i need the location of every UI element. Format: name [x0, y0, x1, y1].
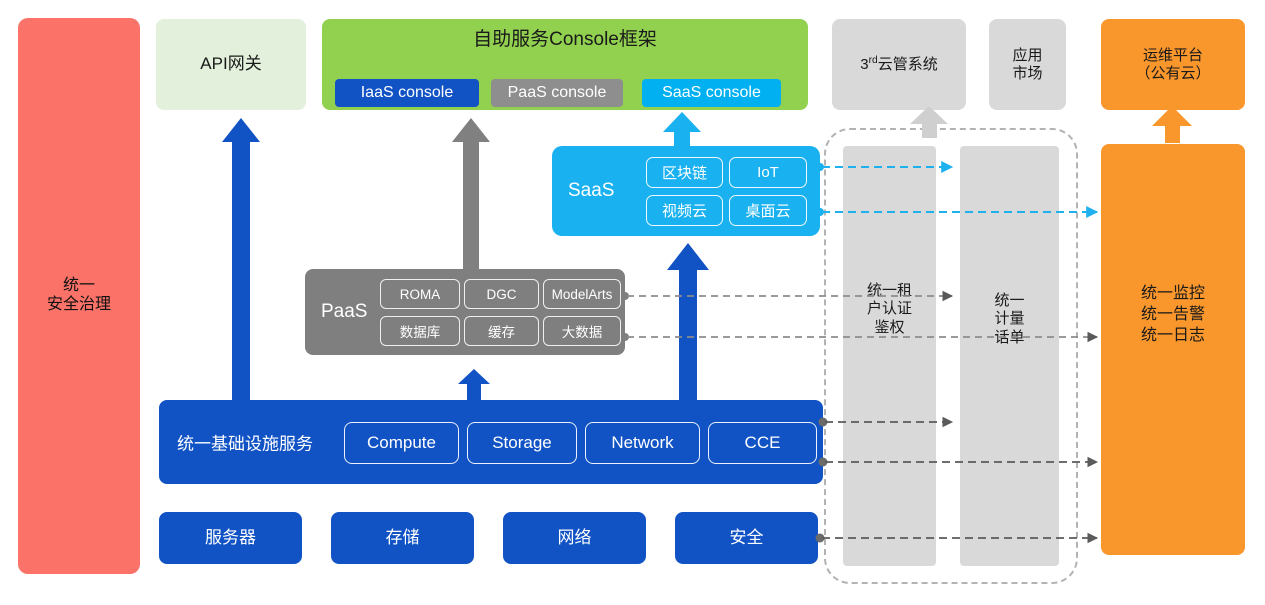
ops-monitoring-line3: 统一日志 — [1101, 326, 1245, 347]
architecture-diagram: 统一 安全治理 API网关 自助服务Console框架 IaaS console… — [0, 0, 1265, 605]
third-party-cloud-box: 3rd云管系统 — [832, 19, 966, 110]
ops-platform-line1: 运维平台 — [1143, 47, 1203, 65]
infra-service-cce[interactable]: CCE — [708, 422, 817, 464]
third-party-cloud-label: 3rd云管系统 — [860, 55, 937, 74]
iaas-console-label: IaaS console — [361, 84, 454, 103]
unified-billing-text: 统一 计量 话单 — [960, 292, 1059, 347]
saas-service-iot[interactable]: IoT — [729, 157, 807, 188]
console-framework-box: 自助服务Console框架 IaaS console PaaS console … — [322, 19, 808, 110]
paas-service-dgc-label: DGC — [487, 287, 517, 302]
hardware-network-box: 网络 — [503, 512, 646, 564]
paas-service-database-label: 数据库 — [400, 321, 441, 341]
unified-billing-line2: 计量 — [960, 310, 1059, 328]
saas-service-desktop-cloud-label: 桌面云 — [745, 200, 790, 221]
security-governance-line1: 统一 — [63, 277, 95, 296]
saas-console-chip[interactable]: SaaS console — [642, 79, 781, 107]
arrow-infra-to-paas — [458, 369, 490, 400]
security-governance-line2: 安全治理 — [47, 296, 111, 315]
infra-service-compute[interactable]: Compute — [344, 422, 459, 464]
infrastructure-bar: 统一基础设施服务 Compute Storage Network CCE — [159, 400, 823, 484]
saas-service-iot-label: IoT — [757, 164, 779, 181]
saas-block: SaaS 区块链 IoT 视频云 桌面云 — [552, 146, 820, 236]
infra-service-network-label: Network — [611, 433, 673, 453]
unified-auth-line3: 鉴权 — [843, 319, 936, 337]
paas-service-roma-label: ROMA — [400, 287, 441, 302]
ops-monitoring-panel — [1101, 144, 1245, 555]
paas-console-label: PaaS console — [508, 84, 607, 103]
ordinal-superscript: rd — [869, 55, 878, 66]
infra-service-cce-label: CCE — [745, 433, 781, 453]
security-governance-panel: 统一 安全治理 — [18, 18, 140, 574]
arrow-ops-panel-to-ops-platform — [1152, 106, 1192, 143]
paas-service-dgc[interactable]: DGC — [464, 279, 539, 309]
unified-auth-column — [843, 146, 936, 566]
api-gateway-box: API网关 — [156, 19, 306, 110]
arrow-infra-to-saas — [667, 243, 709, 400]
paas-block: PaaS ROMA DGC ModelArts 数据库 缓存 大数据 — [305, 269, 625, 355]
ops-monitoring-line1: 统一监控 — [1101, 284, 1245, 305]
hardware-storage-box: 存储 — [331, 512, 474, 564]
infrastructure-label: 统一基础设施服务 — [177, 430, 313, 455]
saas-service-video-cloud-label: 视频云 — [662, 200, 707, 221]
saas-service-video-cloud[interactable]: 视频云 — [646, 195, 723, 226]
saas-service-blockchain-label: 区块链 — [662, 162, 707, 183]
paas-service-roma[interactable]: ROMA — [380, 279, 460, 309]
unified-auth-line2: 户认证 — [843, 300, 936, 318]
paas-service-database[interactable]: 数据库 — [380, 316, 460, 346]
unified-auth-text: 统一租 户认证 鉴权 — [843, 282, 936, 337]
app-market-line1: 应用 — [1012, 47, 1042, 65]
ops-monitoring-text: 统一监控 统一告警 统一日志 — [1101, 284, 1245, 346]
arrow-infra-to-api-gateway — [222, 118, 260, 400]
infra-service-storage-label: Storage — [492, 433, 552, 453]
paas-service-cache-label: 缓存 — [488, 321, 515, 341]
paas-service-modelarts-label: ModelArts — [552, 287, 613, 302]
infra-service-compute-label: Compute — [367, 433, 436, 453]
infra-service-network[interactable]: Network — [585, 422, 700, 464]
paas-service-cache[interactable]: 缓存 — [464, 316, 539, 346]
saas-service-blockchain[interactable]: 区块链 — [646, 157, 723, 188]
hardware-security-label: 安全 — [730, 528, 764, 548]
saas-service-desktop-cloud[interactable]: 桌面云 — [729, 195, 807, 226]
paas-service-modelarts[interactable]: ModelArts — [543, 279, 621, 309]
unified-billing-column — [960, 146, 1059, 566]
unified-billing-line3: 话单 — [960, 329, 1059, 347]
unified-auth-line1: 统一租 — [843, 282, 936, 300]
console-framework-title: 自助服务Console框架 — [322, 29, 808, 51]
unified-billing-line1: 统一 — [960, 292, 1059, 310]
ops-platform-line2: （公有云） — [1135, 65, 1210, 83]
arrow-saas-to-console — [663, 112, 701, 146]
app-market-box: 应用 市场 — [989, 19, 1066, 110]
iaas-console-chip[interactable]: IaaS console — [335, 79, 479, 107]
hardware-server-box: 服务器 — [159, 512, 302, 564]
paas-console-chip[interactable]: PaaS console — [491, 79, 623, 107]
api-gateway-label: API网关 — [200, 54, 261, 74]
app-market-line2: 市场 — [1012, 65, 1042, 83]
ops-platform-box: 运维平台 （公有云） — [1101, 19, 1245, 110]
hardware-server-label: 服务器 — [205, 528, 256, 548]
paas-service-bigdata-label: 大数据 — [562, 321, 603, 341]
arrow-paas-to-console — [452, 118, 490, 269]
ops-monitoring-line2: 统一告警 — [1101, 305, 1245, 326]
paas-service-bigdata[interactable]: 大数据 — [543, 316, 621, 346]
hardware-storage-label: 存储 — [386, 528, 420, 548]
infra-service-storage[interactable]: Storage — [467, 422, 577, 464]
saas-block-label: SaaS — [568, 180, 614, 202]
paas-block-label: PaaS — [321, 301, 367, 323]
hardware-network-label: 网络 — [558, 528, 592, 548]
hardware-security-box: 安全 — [675, 512, 818, 564]
saas-console-label: SaaS console — [662, 84, 761, 103]
